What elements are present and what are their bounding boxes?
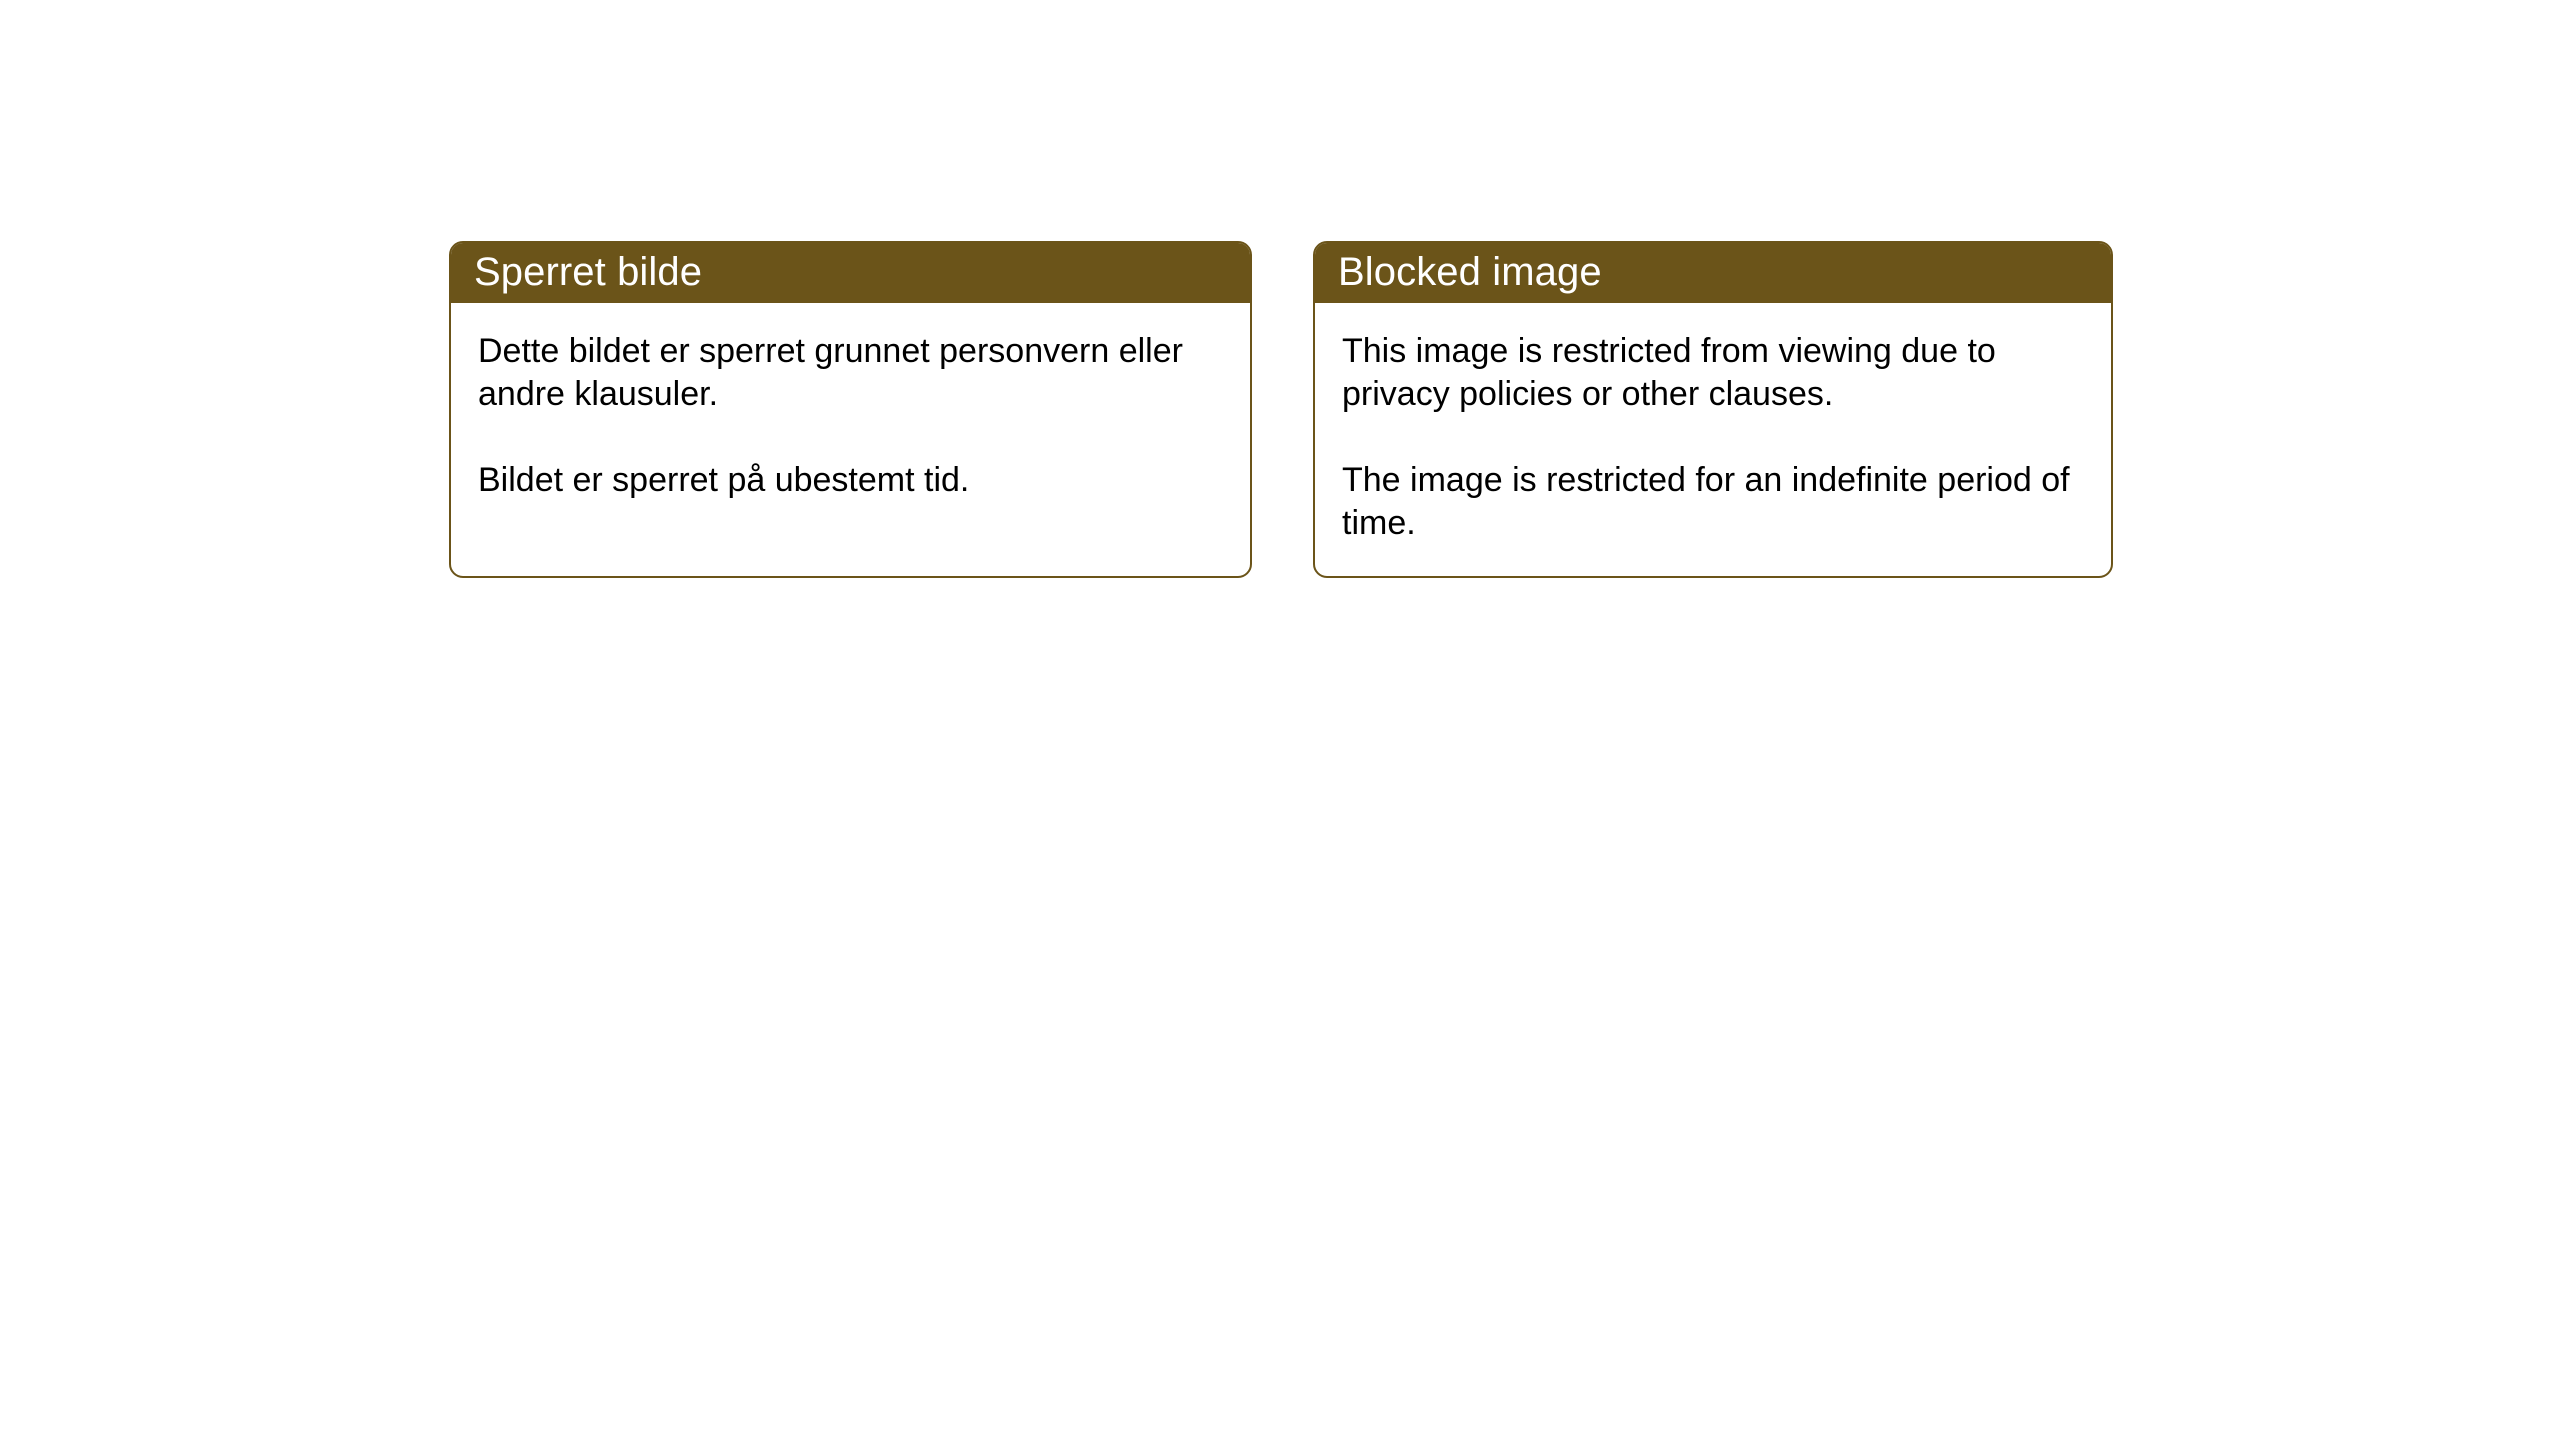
card-body-english: This image is restricted from viewing du… <box>1315 303 2111 545</box>
notice-paragraph-reason-english: This image is restricted from viewing du… <box>1342 330 2085 416</box>
card-title-english: Blocked image <box>1338 252 1602 292</box>
card-body-norwegian: Dette bildet er sperret grunnet personve… <box>451 303 1250 502</box>
card-header-english: Blocked image <box>1313 241 2113 303</box>
notice-paragraph-duration-english: The image is restricted for an indefinit… <box>1342 459 2085 545</box>
notice-paragraph-reason-norwegian: Dette bildet er sperret grunnet personve… <box>478 330 1224 416</box>
notice-paragraph-duration-norwegian: Bildet er sperret på ubestemt tid. <box>478 459 1224 502</box>
blocked-image-notice-card-english: Blocked image This image is restricted f… <box>1313 241 2113 578</box>
card-title-norwegian: Sperret bilde <box>474 252 702 292</box>
card-header-norwegian: Sperret bilde <box>449 241 1252 303</box>
page-root: Sperret bilde Dette bildet er sperret gr… <box>0 0 2560 1440</box>
blocked-image-notice-card-norwegian: Sperret bilde Dette bildet er sperret gr… <box>449 241 1252 578</box>
